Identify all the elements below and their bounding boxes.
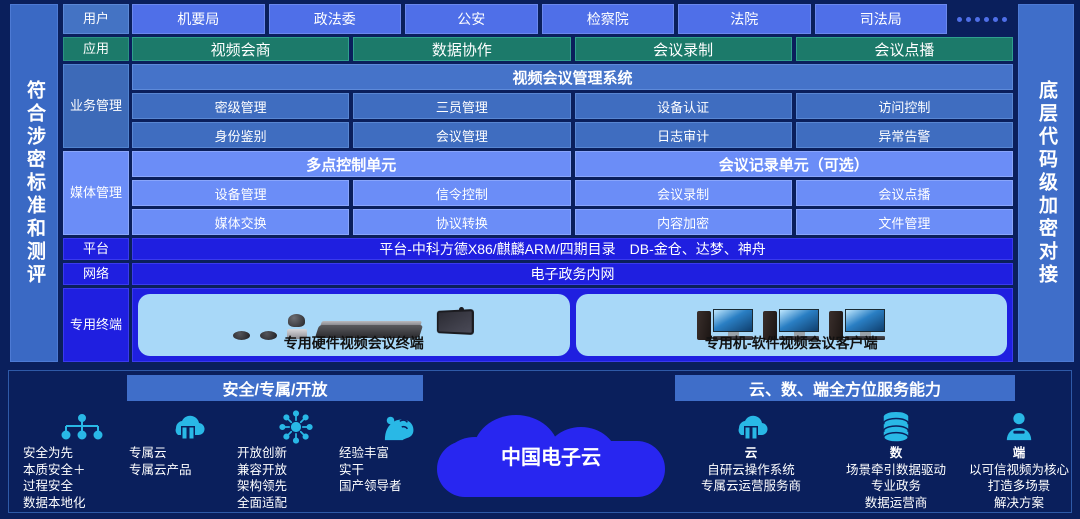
layer-label-network: 网络 <box>63 263 129 285</box>
layer-label-application: 应用 <box>63 37 129 61</box>
capability-headings: 安全/专属/开放 云、数、端全方位服务能力 <box>9 371 1071 401</box>
feature-line: 打造多场景 <box>959 478 1079 495</box>
app-item-meeting-record[interactable]: 会议录制 <box>575 37 792 61</box>
terminal-boxes: 专用硬件视频会议终端 <box>132 288 1013 362</box>
layer-row-business: 业务管理 视频会议管理系统 密级管理 三员管理 设备认证 访问控制 身份鉴别 会… <box>63 64 1013 148</box>
media-subrow-1: 设备管理 信令控制 会议录制 会议点播 <box>132 180 1013 206</box>
left-compliance-banner: 符合涉密标准和测评 <box>10 4 58 362</box>
microphone-icon <box>260 331 277 340</box>
platform-detail-text: 平台-中科方德X86/麒麟ARM/四期目录 DB-金仓、达梦、神舟 <box>132 238 1013 260</box>
architecture-diagram: 符合涉密标准和测评 用户 机要局 政法委 公安 检察院 法院 司法局 <box>0 0 1080 519</box>
layer-label-user: 用户 <box>63 4 129 34</box>
terminal-caption-software: 专用机-软件视频会议客户端 <box>705 333 878 353</box>
feature-line: 数据运营商 <box>821 495 971 512</box>
database-icon <box>821 409 971 445</box>
feature-title: 数 <box>821 445 971 462</box>
media-band-recorder: 会议记录单元（可选） <box>575 151 1014 177</box>
terminal-caption-hardware: 专用硬件视频会议终端 <box>284 333 424 353</box>
terminal-box-hardware[interactable]: 专用硬件视频会议终端 <box>138 294 570 356</box>
layer-row-media: 媒体管理 多点控制单元 会议记录单元（可选） 设备管理 信令控制 会议录制 会议… <box>63 151 1013 235</box>
feature-text: 安全为先 本质安全＋ 过程安全 数据本地化 <box>23 445 141 511</box>
feature-private-cloud: 专属云 专属云产品 <box>129 409 247 478</box>
business-stack: 视频会议管理系统 密级管理 三员管理 设备认证 访问控制 身份鉴别 会议管理 日… <box>132 64 1013 148</box>
media-item-protocol-convert[interactable]: 协议转换 <box>353 209 570 235</box>
feature-line: 以可信视频为核心 <box>959 462 1079 479</box>
feature-line: 数据本地化 <box>23 495 141 512</box>
media-item-device-mgmt[interactable]: 设备管理 <box>132 180 349 206</box>
feature-text: 专属云 专属云产品 <box>129 445 247 478</box>
business-subrow-2: 身份鉴别 会议管理 日志审计 异常告警 <box>132 122 1013 148</box>
business-item-secrecy-level[interactable]: 密级管理 <box>132 93 349 119</box>
snowflake-innovation-icon <box>237 409 355 445</box>
user-more-ellipsis-icon <box>951 4 1013 34</box>
user-item-zhengfawei[interactable]: 政法委 <box>269 4 402 34</box>
business-item-access-control[interactable]: 访问控制 <box>796 93 1013 119</box>
feature-text: 开放创新 兼容开放 架构领先 全面适配 <box>237 445 355 511</box>
feature-line: 专属云产品 <box>129 462 247 479</box>
business-subrow-1: 密级管理 三员管理 设备认证 访问控制 <box>132 93 1013 119</box>
feature-line: 解决方案 <box>959 495 1079 512</box>
feature-line: 安全为先 <box>23 445 141 462</box>
china-electronics-cloud-logo: 中国电子云 <box>437 411 665 503</box>
feature-data: 数 场景牵引数据驱动 专业政务 数据运营商 <box>821 409 971 511</box>
layer-label-platform: 平台 <box>63 238 129 260</box>
media-item-signaling[interactable]: 信令控制 <box>353 180 570 206</box>
app-item-data-collab[interactable]: 数据协作 <box>353 37 570 61</box>
media-item-media-exchange[interactable]: 媒体交换 <box>132 209 349 235</box>
microphone-icon <box>233 331 250 340</box>
application-items: 视频会商 数据协作 会议录制 会议点播 <box>132 37 1013 61</box>
feature-line: 过程安全 <box>23 478 141 495</box>
cloud-icon <box>681 409 821 445</box>
feature-text: 端 以可信视频为核心 打造多场景 解决方案 <box>959 445 1079 511</box>
media-item-meeting-ondemand[interactable]: 会议点播 <box>796 180 1013 206</box>
layer-row-user: 用户 机要局 政法委 公安 检察院 法院 司法局 <box>63 4 1013 34</box>
terminal-box-software[interactable]: 专用机-软件视频会议客户端 <box>576 294 1008 356</box>
feature-line: 场景牵引数据驱动 <box>821 462 971 479</box>
private-cloud-icon <box>129 409 247 445</box>
layer-row-platform: 平台 平台-中科方德X86/麒麟ARM/四期目录 DB-金仓、达梦、神舟 <box>63 238 1013 260</box>
user-item-jianchayuan[interactable]: 检察院 <box>542 4 675 34</box>
user-item-gongan[interactable]: 公安 <box>405 4 538 34</box>
feature-text: 数 场景牵引数据驱动 专业政务 数据运营商 <box>821 445 971 511</box>
app-item-meeting-ondemand[interactable]: 会议点播 <box>796 37 1013 61</box>
media-subrow-2: 媒体交换 协议转换 内容加密 文件管理 <box>132 209 1013 235</box>
media-band-mcu: 多点控制单元 <box>132 151 571 177</box>
feature-line: 专属云 <box>129 445 247 462</box>
capability-heading-left: 安全/专属/开放 <box>127 375 423 401</box>
layer-label-terminal: 专用终端 <box>63 288 129 362</box>
layer-row-network: 网络 电子政务内网 <box>63 263 1013 285</box>
network-detail-text: 电子政务内网 <box>132 263 1013 285</box>
feature-title: 端 <box>959 445 1079 462</box>
feature-line: 本质安全＋ <box>23 462 141 479</box>
terminal-user-icon <box>959 409 1079 445</box>
business-item-meeting-mgmt[interactable]: 会议管理 <box>353 122 570 148</box>
architecture-stack: 符合涉密标准和测评 用户 机要局 政法委 公安 检察院 法院 司法局 <box>0 0 1080 366</box>
user-item-jiyaoju[interactable]: 机要局 <box>132 4 265 34</box>
layer-label-business: 业务管理 <box>63 64 129 148</box>
feature-line: 专属云运营服务商 <box>681 478 821 495</box>
media-stack: 多点控制单元 会议记录单元（可选） 设备管理 信令控制 会议录制 会议点播 媒体… <box>132 151 1013 235</box>
left-banner-text: 符合涉密标准和测评 <box>24 80 44 287</box>
layer-label-media: 媒体管理 <box>63 151 129 235</box>
media-item-content-encrypt[interactable]: 内容加密 <box>575 209 792 235</box>
business-item-three-roles[interactable]: 三员管理 <box>353 93 570 119</box>
right-encryption-banner: 底层代码级加密对接 <box>1018 4 1074 362</box>
capability-panel: 安全/专属/开放 云、数、端全方位服务能力 安全为先 本质安全＋ <box>8 370 1072 513</box>
media-item-meeting-record[interactable]: 会议录制 <box>575 180 792 206</box>
network-topology-icon <box>23 409 141 445</box>
layer-row-terminal: 专用终端 <box>63 288 1013 362</box>
user-item-fayuan[interactable]: 法院 <box>678 4 811 34</box>
business-item-device-auth[interactable]: 设备认证 <box>575 93 792 119</box>
layer-grid: 用户 机要局 政法委 公安 检察院 法院 司法局 应用 视频会商 <box>63 4 1013 362</box>
app-item-video-consult[interactable]: 视频会商 <box>132 37 349 61</box>
layer-row-application: 应用 视频会商 数据协作 会议录制 会议点播 <box>63 37 1013 61</box>
feature-line: 自研云操作系统 <box>681 462 821 479</box>
business-item-anomaly-alert[interactable]: 异常告警 <box>796 122 1013 148</box>
business-item-log-audit[interactable]: 日志审计 <box>575 122 792 148</box>
business-item-identity[interactable]: 身份鉴别 <box>132 122 349 148</box>
user-item-sifaju[interactable]: 司法局 <box>815 4 948 34</box>
feature-line: 开放创新 <box>237 445 355 462</box>
capability-heading-right: 云、数、端全方位服务能力 <box>675 375 1015 401</box>
feature-line: 架构领先 <box>237 478 355 495</box>
touch-panel-icon <box>435 310 475 340</box>
right-banner-text: 底层代码级加密对接 <box>1036 80 1056 287</box>
media-band-row: 多点控制单元 会议记录单元（可选） <box>132 151 1013 177</box>
feature-line: 全面适配 <box>237 495 355 512</box>
user-items: 机要局 政法委 公安 检察院 法院 司法局 <box>132 4 1013 34</box>
business-band-title: 视频会议管理系统 <box>132 64 1013 90</box>
feature-security-first: 安全为先 本质安全＋ 过程安全 数据本地化 <box>23 409 141 511</box>
feature-text: 云 自研云操作系统 专属云运营服务商 <box>681 445 821 495</box>
capability-features: 安全为先 本质安全＋ 过程安全 数据本地化 专属云 <box>9 401 1071 511</box>
feature-line: 专业政务 <box>821 478 971 495</box>
feature-title: 云 <box>681 445 821 462</box>
cloud-logo-label: 中国电子云 <box>437 441 665 470</box>
feature-cloud: 云 自研云操作系统 专属云运营服务商 <box>681 409 821 495</box>
feature-line: 兼容开放 <box>237 462 355 479</box>
feature-open-innovation: 开放创新 兼容开放 架构领先 全面适配 <box>237 409 355 511</box>
feature-terminal: 端 以可信视频为核心 打造多场景 解决方案 <box>959 409 1079 511</box>
media-item-file-mgmt[interactable]: 文件管理 <box>796 209 1013 235</box>
